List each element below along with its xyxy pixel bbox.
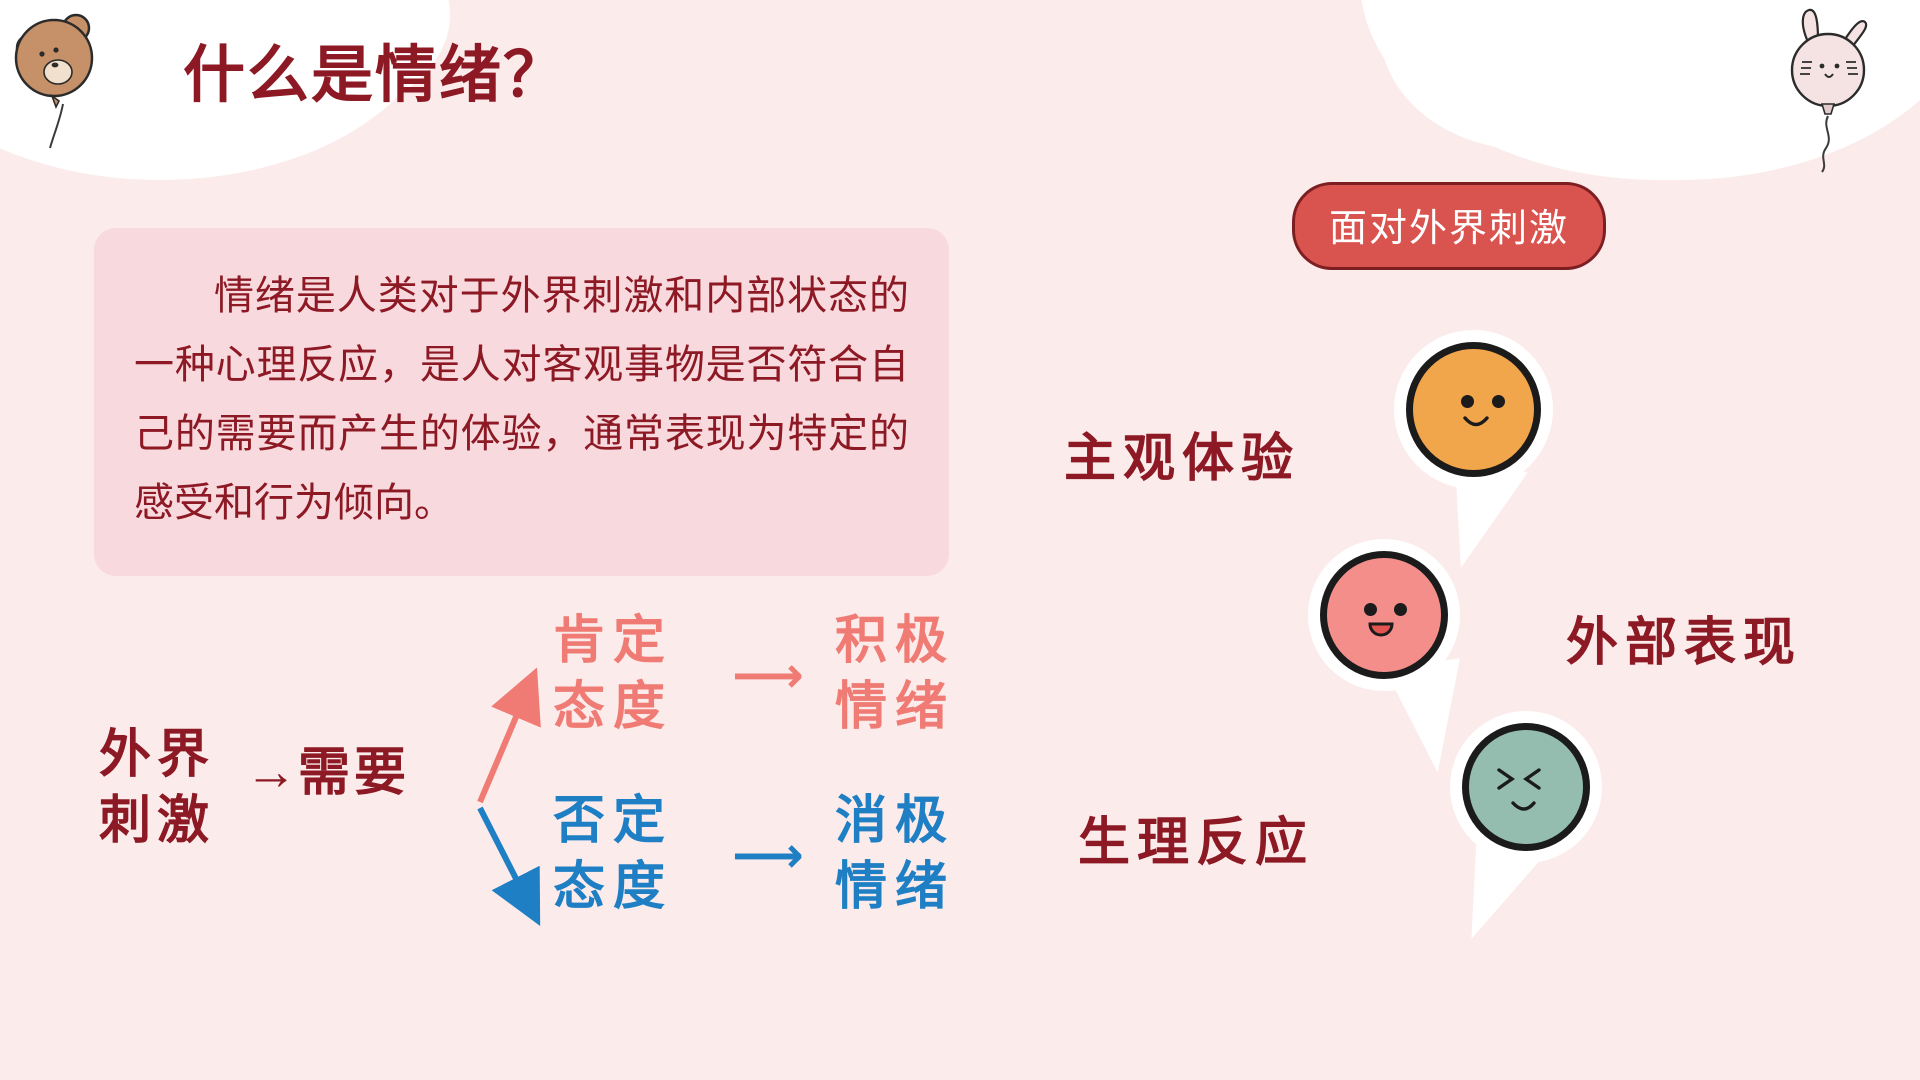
flow-arrow-positive-icon: ⟶ <box>732 650 804 700</box>
flow-arrow-main-icon: → <box>245 746 297 798</box>
flow-node-need: 需要 <box>298 730 410 805</box>
face-mouth-smile <box>1511 800 1541 818</box>
flow-source-line-1: 外界 <box>82 722 232 788</box>
face-eye-right <box>1492 395 1505 408</box>
bubble-subjective-experience <box>1406 342 1541 477</box>
negative-attitude-line-2: 态度 <box>538 854 688 920</box>
emotion-flow-diagram: 外界 刺激 → 需要 肯定 态度 ⟶ 积极 情绪 否定 态度 ⟶ 消极 情绪 <box>60 630 960 1050</box>
face-eye-left <box>1364 603 1377 616</box>
stimulus-badge: 面对外界刺激 <box>1292 182 1606 270</box>
positive-attitude-line-1: 肯定 <box>538 608 688 674</box>
flow-node-external-stimulus: 外界 刺激 <box>82 722 232 854</box>
flow-node-negative-attitude: 否定 态度 <box>538 788 688 920</box>
face-eye-right <box>1394 603 1407 616</box>
face-eye-left <box>1461 395 1474 408</box>
flow-source-line-2: 刺激 <box>82 788 232 854</box>
positive-attitude-line-2: 态度 <box>538 674 688 740</box>
negative-result-line-2: 情绪 <box>820 854 970 920</box>
negative-result-line-1: 消极 <box>820 788 970 854</box>
flow-arrow-negative-icon: ⟶ <box>732 830 804 880</box>
smiling-face-icon <box>1406 342 1541 477</box>
face-mouth-open <box>1367 621 1399 643</box>
definition-paragraph: 情绪是人类对于外界刺激和内部状态的一种心理反应，是人对客观事物是否符合自己的需要… <box>134 262 909 538</box>
bubble-external-expression <box>1320 551 1448 679</box>
positive-result-line-1: 积极 <box>820 608 970 674</box>
definition-card: 情绪是人类对于外界刺激和内部状态的一种心理反应，是人对客观事物是否符合自己的需要… <box>94 228 949 576</box>
caption-physiological-response: 生理反应 <box>1078 800 1314 875</box>
flow-node-positive-attitude: 肯定 态度 <box>538 608 688 740</box>
flow-node-positive-emotion: 积极 情绪 <box>820 608 970 740</box>
positive-result-line-2: 情绪 <box>820 674 970 740</box>
squinting-face-icon <box>1462 723 1590 851</box>
caption-subjective-experience: 主观体验 <box>1064 416 1300 491</box>
caption-external-expression: 外部表现 <box>1566 600 1802 675</box>
flow-node-negative-emotion: 消极 情绪 <box>820 788 970 920</box>
face-eyes-squint <box>1495 766 1575 796</box>
rabbit-balloon-icon <box>1756 4 1906 179</box>
page-title: 什么是情绪？ <box>183 24 567 114</box>
bubble-physiological-response <box>1462 723 1590 851</box>
face-mouth-smile <box>1463 415 1493 433</box>
open-mouth-face-icon <box>1320 551 1448 679</box>
bear-balloon-icon <box>8 8 148 163</box>
negative-attitude-line-1: 否定 <box>538 788 688 854</box>
